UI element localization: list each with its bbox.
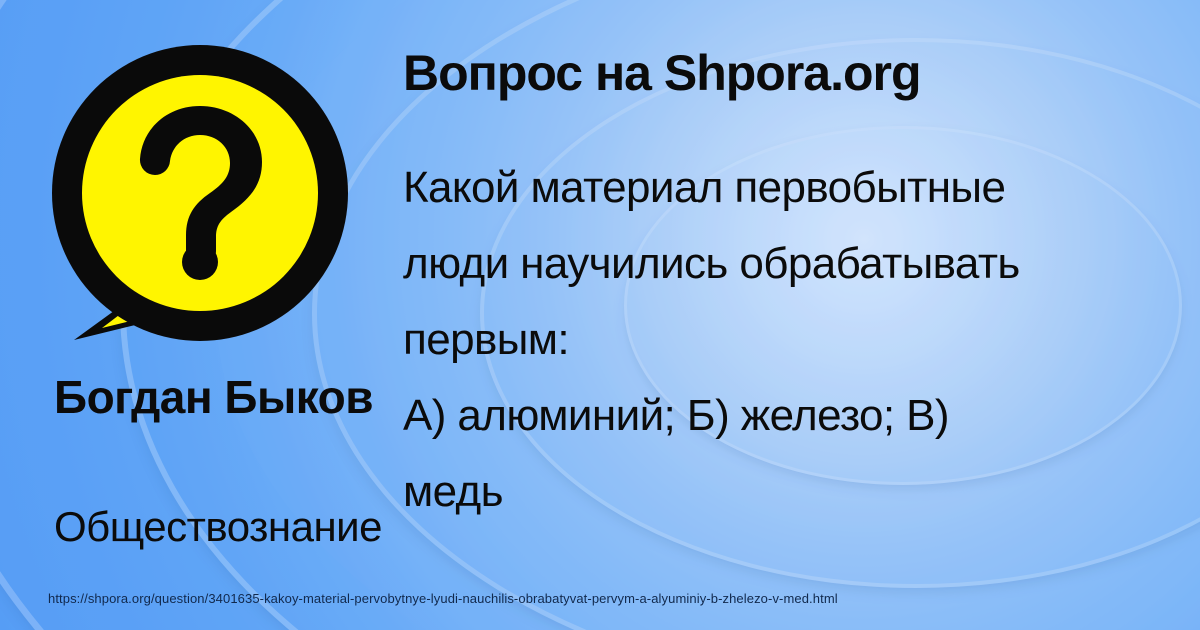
question-line: первым:	[403, 302, 1200, 378]
question-options-line: медь	[403, 454, 1200, 530]
question-speech-bubble-icon	[44, 40, 364, 350]
question-text: Какой материал первобытные люди научилис…	[403, 150, 1200, 530]
question-line: люди научились обрабатывать	[403, 226, 1200, 302]
page-title: Вопрос на Shpora.org	[403, 47, 1193, 100]
subject-label: Обществознание	[54, 505, 414, 549]
author-name: Богдан Быков	[54, 374, 384, 422]
question-line: Какой материал первобытные	[403, 150, 1200, 226]
source-url[interactable]: https://shpora.org/question/3401635-kako…	[48, 591, 838, 607]
question-card: Вопрос на Shpora.org Какой материал перв…	[0, 0, 1200, 630]
question-options-line: А) алюминий; Б) железо; В)	[403, 378, 1200, 454]
